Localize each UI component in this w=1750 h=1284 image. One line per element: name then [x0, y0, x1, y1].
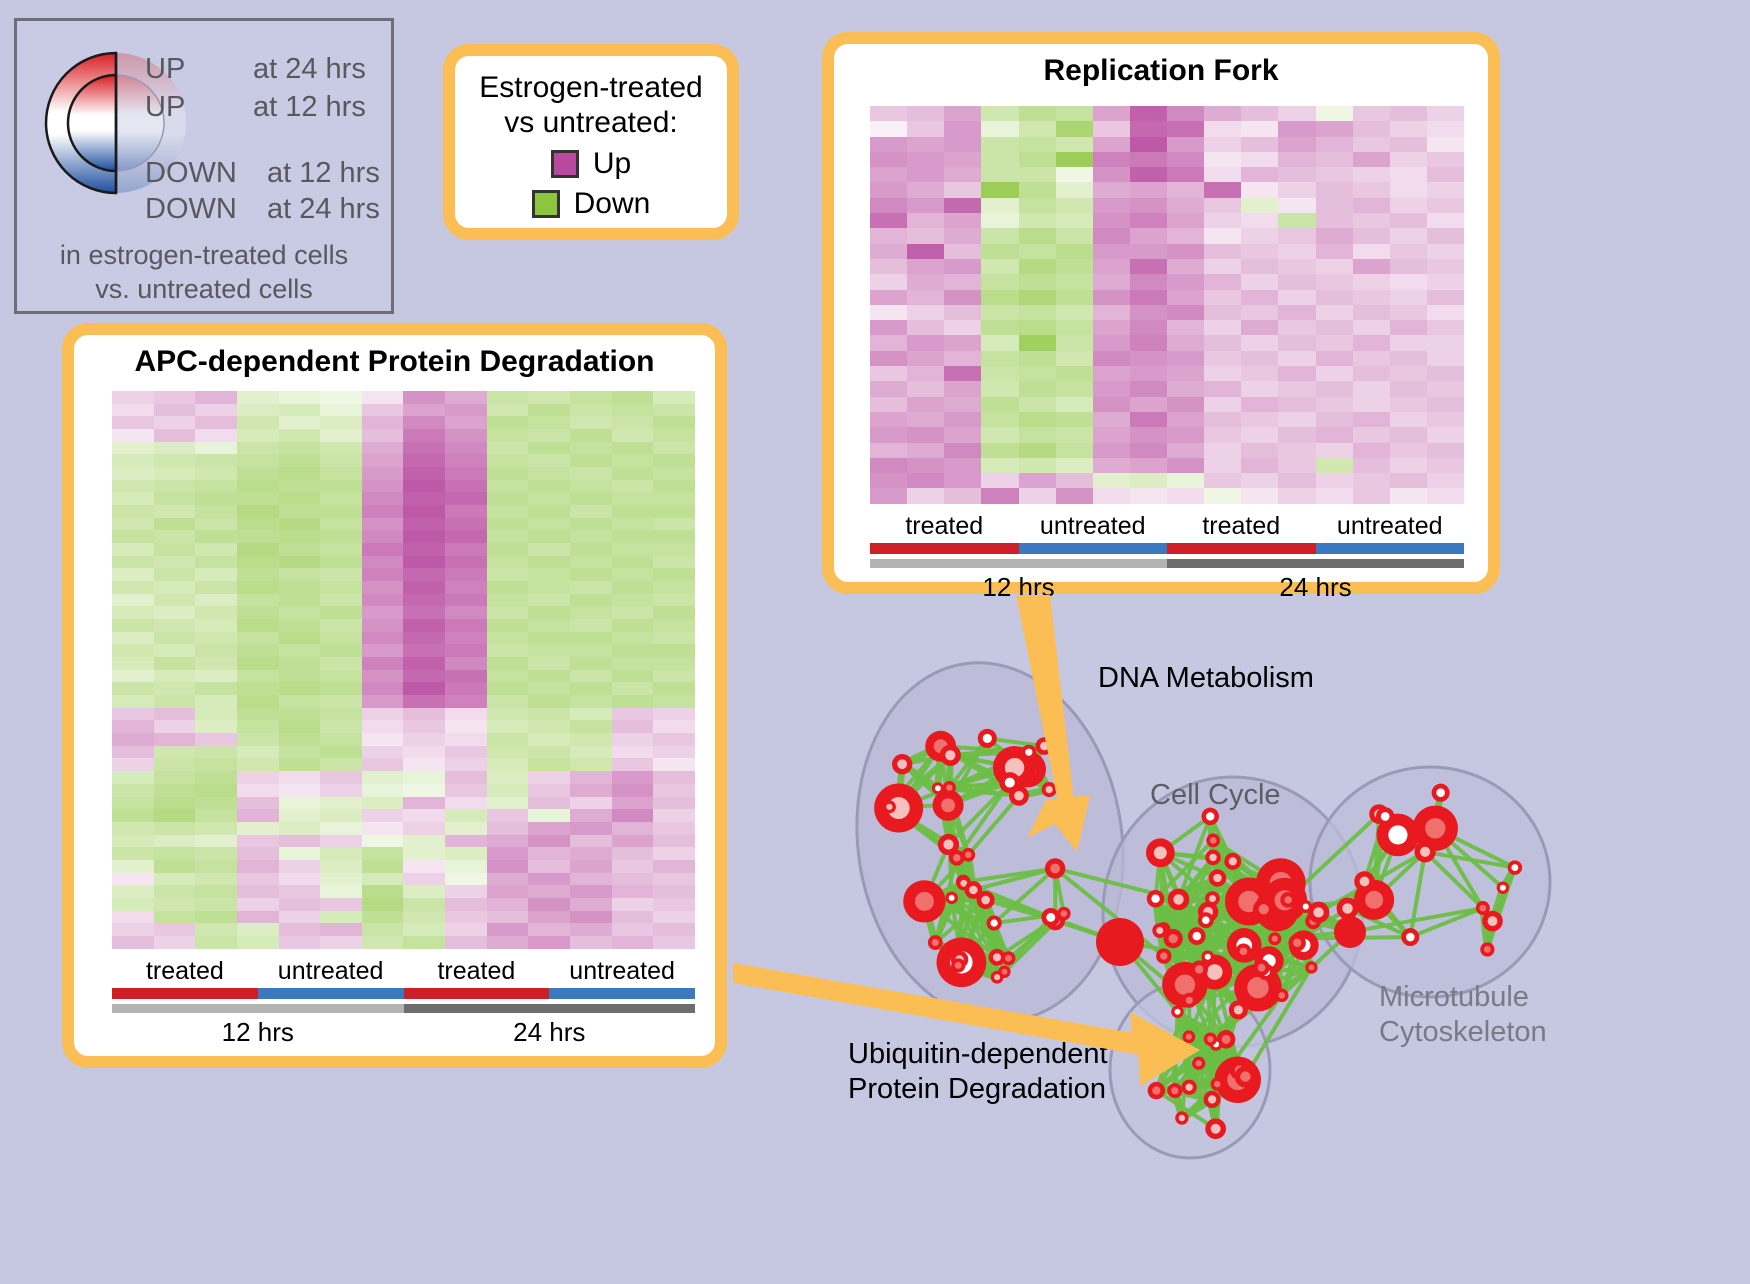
- node-inner-ring: [1240, 948, 1248, 956]
- node-inner-ring: [1208, 1095, 1216, 1103]
- network-node[interactable]: [951, 958, 965, 972]
- node-inner-ring: [1210, 837, 1217, 844]
- node-inner-ring: [1240, 1071, 1250, 1081]
- network-node[interactable]: [883, 800, 896, 813]
- network-node[interactable]: [903, 880, 945, 922]
- node-inner-ring: [1511, 864, 1518, 871]
- network-node[interactable]: [1204, 1091, 1221, 1108]
- node-inner-ring: [981, 896, 990, 905]
- network-node[interactable]: [932, 782, 944, 794]
- node-inner-ring: [1005, 778, 1015, 788]
- network-node[interactable]: [1021, 745, 1036, 760]
- network-node[interactable]: [943, 781, 956, 794]
- network-node[interactable]: [978, 729, 997, 748]
- column-header-2: treated: [1167, 512, 1316, 541]
- time-bar-segment-3: [549, 1004, 695, 1013]
- node-inner-ring: [1229, 857, 1237, 865]
- estrogen-key-panel: Estrogen-treated vs untreated: Up Down: [443, 44, 739, 240]
- node-inner-ring: [1279, 992, 1285, 998]
- network-node[interactable]: [1253, 899, 1274, 920]
- node-inner-ring: [1234, 1005, 1243, 1014]
- network-node[interactable]: [1497, 881, 1510, 894]
- legend-dir-2: DOWN: [145, 157, 237, 190]
- time-bar-segment-2: [1167, 559, 1316, 568]
- node-inner-ring: [886, 804, 892, 810]
- down-label: Down: [574, 187, 651, 221]
- up-color-swatch: [551, 150, 579, 178]
- node-inner-ring: [1169, 934, 1178, 943]
- node-inner-ring: [1152, 1086, 1160, 1094]
- node-inner-ring: [1272, 936, 1278, 942]
- column-header-3: untreated: [1316, 512, 1465, 541]
- node-inner-ring: [1186, 1034, 1192, 1040]
- network-node[interactable]: [1253, 959, 1269, 975]
- column-header-0: treated: [870, 512, 1019, 541]
- treatment-bar-segment-2: [1167, 543, 1316, 554]
- node-inner-ring: [935, 785, 941, 791]
- network-node[interactable]: [940, 745, 961, 766]
- network-node[interactable]: [1204, 1033, 1217, 1046]
- time-label-1: 24 hrs: [1167, 572, 1464, 603]
- replication-fork-time-bar: [870, 559, 1464, 568]
- node-inner-ring: [969, 886, 978, 895]
- time-bar-segment-2: [404, 1004, 550, 1013]
- network-node[interactable]: [1192, 1057, 1205, 1070]
- network-node[interactable]: [1337, 898, 1359, 920]
- network-node[interactable]: [1205, 850, 1221, 866]
- network-node[interactable]: [1096, 918, 1144, 966]
- node-inner-ring: [1303, 904, 1309, 910]
- time-bar-segment-3: [1316, 559, 1465, 568]
- treatment-bar-segment-0: [112, 988, 258, 999]
- node-inner-ring: [1284, 896, 1292, 904]
- network-node[interactable]: [945, 892, 958, 905]
- node-inner-ring: [1168, 1041, 1175, 1048]
- node-inner-ring: [1160, 952, 1167, 959]
- network-node[interactable]: [1206, 834, 1220, 848]
- time-bar-segment-0: [870, 559, 1019, 568]
- network-node[interactable]: [961, 848, 975, 862]
- network-node[interactable]: [1182, 993, 1197, 1008]
- node-inner-ring: [1154, 846, 1167, 859]
- node-inner-ring: [953, 854, 960, 861]
- node-inner-ring: [1174, 1009, 1180, 1015]
- replication-fork-panel: Replication Fork treateduntreatedtreated…: [822, 32, 1500, 594]
- legend-dir-1: UP: [145, 91, 185, 124]
- node-inner-ring: [1365, 891, 1383, 909]
- network-node[interactable]: [1147, 890, 1165, 908]
- node-inner-ring: [1193, 932, 1202, 941]
- network-node[interactable]: [1036, 737, 1054, 755]
- cluster-label-dna-metabolism: DNA Metabolism: [1098, 662, 1314, 695]
- estrogen-key-item-down: Down: [465, 187, 717, 221]
- node-inner-ring: [1259, 904, 1269, 914]
- network-node[interactable]: [1288, 934, 1305, 951]
- node-inner-ring: [1214, 1081, 1220, 1087]
- time-label-0: 12 hrs: [112, 1017, 404, 1048]
- network-node[interactable]: [1148, 1082, 1165, 1099]
- legend-dir-3: DOWN: [145, 193, 237, 226]
- node-inner-ring: [1213, 874, 1221, 882]
- node-inner-ring: [1196, 1060, 1202, 1066]
- cluster-label-cell-cycle: Cell Cycle: [1150, 779, 1281, 812]
- node-inner-ring: [1179, 1115, 1185, 1121]
- treatment-bar-segment-1: [258, 988, 404, 999]
- node-inner-ring: [1186, 997, 1193, 1004]
- node-inner-ring: [1479, 905, 1486, 912]
- apc-column-headers: treateduntreatedtreateduntreated: [112, 957, 695, 986]
- time-label-0: 12 hrs: [870, 572, 1167, 603]
- network-node[interactable]: [964, 881, 982, 899]
- network-node[interactable]: [1182, 1030, 1195, 1043]
- network-node[interactable]: [1508, 860, 1522, 874]
- apc-heatmap: [112, 391, 695, 949]
- node-inner-ring: [1388, 825, 1407, 844]
- node-inner-ring: [1342, 903, 1353, 914]
- legend-footer: in estrogen-treated cells vs. untreated …: [17, 239, 391, 307]
- node-inner-ring: [1436, 788, 1445, 797]
- legend-footer-line1: in estrogen-treated cells: [17, 239, 391, 273]
- column-header-0: treated: [112, 957, 258, 986]
- legend-time-1: at 12 hrs: [253, 91, 366, 124]
- node-inner-ring: [1222, 1035, 1231, 1044]
- node-inner-ring: [1061, 910, 1067, 916]
- cluster-label-ubiquitin: Ubiquitin-dependent Protein Degradation: [848, 1037, 1108, 1107]
- network-node[interactable]: [1201, 950, 1214, 963]
- network-node[interactable]: [1229, 1000, 1248, 1019]
- network-node[interactable]: [1275, 989, 1288, 1002]
- legend-footer-line2: vs. untreated cells: [17, 273, 391, 307]
- legend-time-0: at 24 hrs: [253, 53, 366, 86]
- network-node[interactable]: [928, 935, 943, 950]
- network-node[interactable]: [1211, 1077, 1224, 1090]
- network-node[interactable]: [1268, 932, 1281, 945]
- node-inner-ring: [993, 953, 1001, 961]
- network-node[interactable]: [1476, 901, 1490, 915]
- estrogen-key-title-line2: vs untreated:: [465, 105, 717, 140]
- node-inner-ring: [1211, 1124, 1221, 1134]
- cluster-halo-dna-metabolism: [834, 645, 1146, 1038]
- network-node[interactable]: [1205, 1118, 1226, 1139]
- network-node[interactable]: [1334, 916, 1366, 948]
- node-inner-ring: [1202, 916, 1210, 924]
- network-node[interactable]: [938, 834, 959, 855]
- network-node[interactable]: [1235, 1066, 1257, 1088]
- network-node[interactable]: [1146, 838, 1175, 867]
- node-inner-ring: [1173, 894, 1183, 904]
- cluster-halo-microtubule: [1310, 767, 1550, 997]
- network-node[interactable]: [1376, 807, 1394, 825]
- apc-time-labels: 12 hrs24 hrs: [112, 1017, 695, 1048]
- treatment-bar-segment-3: [549, 988, 695, 999]
- network-node[interactable]: [991, 971, 1004, 984]
- node-inner-ring: [1293, 939, 1301, 947]
- network-node[interactable]: [1224, 853, 1241, 870]
- network-node[interactable]: [987, 915, 1002, 930]
- node-inner-ring: [1195, 965, 1203, 973]
- node-inner-ring: [1005, 955, 1012, 962]
- treatment-bar-segment-2: [404, 988, 550, 999]
- down-color-swatch: [532, 190, 560, 218]
- network-node[interactable]: [1168, 889, 1190, 911]
- network-node[interactable]: [1045, 858, 1065, 878]
- network-node[interactable]: [1042, 782, 1057, 797]
- node-inner-ring: [1406, 933, 1415, 942]
- network-node[interactable]: [1432, 784, 1450, 802]
- apc-treatment-bar: [112, 988, 695, 999]
- node-inner-ring: [991, 919, 998, 926]
- node-inner-ring: [1050, 864, 1060, 874]
- node-inner-ring: [1206, 812, 1214, 820]
- node-inner-ring: [1171, 1087, 1178, 1094]
- network-node[interactable]: [1354, 871, 1374, 891]
- replication-fork-treatment-bar: [870, 543, 1464, 554]
- apc-time-bar: [112, 1004, 695, 1013]
- estrogen-key-title-line1: Estrogen-treated: [465, 70, 717, 105]
- network-node[interactable]: [1182, 1080, 1197, 1095]
- replication-fork-time-labels: 12 hrs24 hrs: [870, 572, 1464, 603]
- node-inner-ring: [1381, 812, 1390, 821]
- network-node[interactable]: [1401, 928, 1419, 946]
- node-inner-ring: [983, 734, 992, 743]
- network-node[interactable]: [1001, 951, 1015, 965]
- network-node[interactable]: [1414, 841, 1435, 862]
- network-node[interactable]: [1198, 912, 1214, 928]
- node-inner-ring: [1258, 964, 1266, 972]
- node-inner-ring: [1420, 847, 1430, 857]
- legend-time-2: at 12 hrs: [267, 157, 380, 190]
- network-node[interactable]: [1480, 942, 1494, 956]
- node-inner-ring: [955, 962, 962, 969]
- node-inner-ring: [1156, 927, 1163, 934]
- network-node[interactable]: [874, 784, 923, 833]
- network-node[interactable]: [1190, 960, 1208, 978]
- time-bar-segment-1: [258, 1004, 404, 1013]
- node-inner-ring: [1151, 895, 1159, 903]
- pathway-network-diagram: DNA Metabolism Cell Cycle Microtubule Cy…: [790, 612, 1750, 1279]
- node-inner-ring: [1040, 742, 1048, 750]
- up-down-circle-legend: UP at 24 hrs UP at 12 hrs DOWN at 12 hrs…: [14, 18, 394, 314]
- node-inner-ring: [945, 750, 955, 760]
- node-inner-ring: [946, 784, 952, 790]
- estrogen-key-item-up: Up: [465, 147, 717, 181]
- node-inner-ring: [1488, 916, 1498, 926]
- node-inner-ring: [965, 851, 972, 858]
- time-label-1: 24 hrs: [404, 1017, 696, 1048]
- node-inner-ring: [1360, 877, 1370, 887]
- time-bar-segment-1: [1019, 559, 1168, 568]
- network-node[interactable]: [1188, 927, 1206, 945]
- replication-fork-heatmap: [870, 106, 1464, 504]
- node-inner-ring: [1025, 749, 1032, 756]
- column-header-2: treated: [404, 957, 550, 986]
- node-inner-ring: [1425, 818, 1445, 838]
- network-node[interactable]: [1167, 1083, 1182, 1098]
- node-inner-ring: [943, 839, 953, 849]
- column-header-1: untreated: [258, 957, 404, 986]
- network-node[interactable]: [1299, 900, 1312, 913]
- node-inner-ring: [1046, 786, 1053, 793]
- node-inner-ring: [1308, 965, 1314, 971]
- column-header-3: untreated: [549, 957, 695, 986]
- time-bar-segment-0: [112, 1004, 258, 1013]
- network-node[interactable]: [1205, 891, 1220, 906]
- apc-panel: APC-dependent Protein Degradation treate…: [62, 323, 727, 1068]
- legend-time-3: at 24 hrs: [267, 193, 380, 226]
- node-inner-ring: [1484, 946, 1491, 953]
- network-edge: [1175, 1012, 1178, 1091]
- up-label: Up: [593, 147, 631, 181]
- replication-fork-column-headers: treateduntreatedtreateduntreated: [870, 512, 1464, 541]
- cluster-label-microtubule: Microtubule Cytoskeleton: [1379, 980, 1547, 1050]
- node-inner-ring: [1046, 913, 1055, 922]
- node-inner-ring: [932, 939, 939, 946]
- network-node[interactable]: [1152, 923, 1167, 938]
- network-node[interactable]: [892, 754, 912, 774]
- node-inner-ring: [1209, 854, 1216, 861]
- node-inner-ring: [897, 759, 907, 769]
- network-node[interactable]: [1236, 943, 1252, 959]
- network-node[interactable]: [1041, 908, 1060, 927]
- node-inner-ring: [941, 798, 955, 812]
- network-node[interactable]: [1156, 948, 1171, 963]
- treatment-bar-segment-0: [870, 543, 1019, 554]
- node-inner-ring: [915, 892, 934, 911]
- node-inner-ring: [1186, 1084, 1193, 1091]
- network-node[interactable]: [1175, 1111, 1188, 1124]
- network-node[interactable]: [1280, 892, 1296, 908]
- legend-dir-0: UP: [145, 53, 185, 86]
- network-node[interactable]: [1171, 1006, 1183, 1018]
- node-inner-ring: [1313, 907, 1323, 917]
- network-node[interactable]: [933, 790, 964, 821]
- column-header-1: untreated: [1019, 512, 1168, 541]
- replication-fork-title: Replication Fork: [834, 54, 1488, 88]
- node-inner-ring: [949, 895, 955, 901]
- node-inner-ring: [1207, 1036, 1213, 1042]
- network-node[interactable]: [1165, 1038, 1179, 1052]
- node-inner-ring: [1175, 974, 1195, 994]
- node-inner-ring: [1014, 791, 1024, 801]
- node-inner-ring: [994, 974, 1000, 980]
- node-inner-ring: [1207, 964, 1223, 980]
- network-node[interactable]: [1305, 961, 1317, 973]
- network-node[interactable]: [1209, 869, 1226, 886]
- node-inner-ring: [1209, 895, 1216, 902]
- apc-title: APC-dependent Protein Degradation: [74, 345, 715, 379]
- node-inner-ring: [1205, 954, 1211, 960]
- node-inner-ring: [1500, 885, 1506, 891]
- network-node[interactable]: [999, 772, 1020, 793]
- treatment-bar-segment-3: [1316, 543, 1465, 554]
- treatment-bar-segment-1: [1019, 543, 1168, 554]
